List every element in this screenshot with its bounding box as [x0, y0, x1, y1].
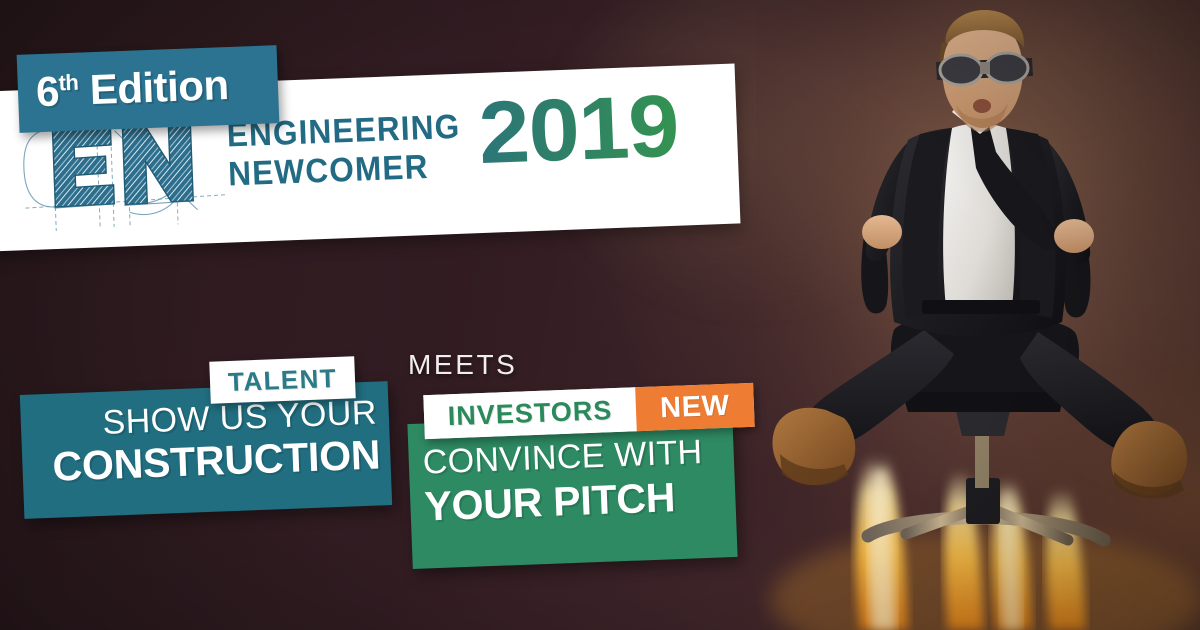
edition-label: Edition [89, 61, 229, 113]
investors-tag-label: INVESTORS [447, 395, 613, 432]
new-badge-label: NEW [660, 389, 731, 425]
edition-ordinal-suffix: th [58, 70, 79, 96]
promotional-banner: ENGINEERING NEWCOMER 2019 6th Edition ME… [0, 0, 1200, 630]
meets-connector-label: MEETS [408, 349, 517, 381]
new-badge: NEW [635, 383, 755, 431]
talent-headline-line-2: CONSTRUCTION [52, 431, 381, 490]
edition-badge-text: 6th Edition [35, 58, 229, 119]
talent-tag-label: TALENT [227, 362, 337, 397]
investors-tag-white-segment: INVESTORS [423, 387, 637, 439]
year-label: 2019 [477, 82, 680, 177]
talent-tag: TALENT [209, 356, 355, 403]
talent-panel: SHOW US YOUR CONSTRUCTION [20, 381, 392, 519]
edition-badge: 6th Edition [17, 45, 280, 133]
edition-number: 6 [35, 67, 60, 115]
hero-photo-man-on-rocket-chair [756, 0, 1200, 630]
wordmark-line-2: NEWCOMER [228, 147, 463, 195]
investors-headline-line-2: YOUR PITCH [424, 474, 676, 530]
